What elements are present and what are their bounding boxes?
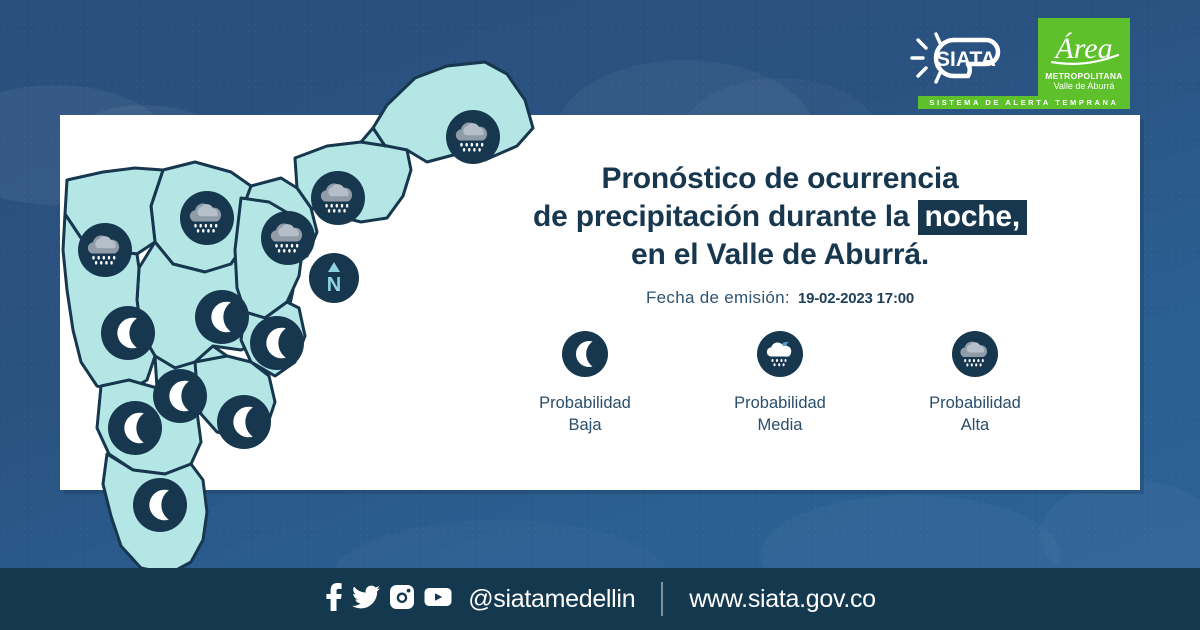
headline-line-2-pre: de precipitación durante la: [533, 200, 909, 233]
marker-copacabana: [261, 211, 315, 265]
cloud-moon-rain-icon: [695, 330, 865, 378]
marker-medellin: [195, 290, 249, 344]
legend-label-alta-line1: Probabilidad: [890, 392, 1060, 414]
youtube-icon[interactable]: [424, 586, 452, 613]
logo-group: SIATA Área METROPOLITANA Valle de Aburrá: [910, 18, 1130, 99]
marker-caldas: [133, 478, 187, 532]
website-url[interactable]: www.siata.gov.co: [689, 585, 875, 614]
compass-label: N: [327, 274, 341, 296]
probability-legend: Probabilidad Baja Probabi: [470, 330, 1090, 436]
marker-girardota: [311, 171, 365, 225]
marker-san-jeronimo: [101, 306, 155, 360]
legend-label-baja: Probabilidad Baja: [500, 392, 670, 436]
legend-label-media-line2: Media: [695, 414, 865, 436]
facebook-icon[interactable]: [324, 583, 343, 616]
issue-date-value: 19-02-2023 17:00: [798, 290, 914, 307]
forecast-text-block: Pronóstico de ocurrencia de precipitació…: [470, 160, 1090, 308]
issue-date-label: Fecha de emisión:: [646, 288, 790, 308]
siata-tagline-banner: SISTEMA DE ALERTA TEMPRANA: [918, 96, 1130, 109]
marker-barbosa: [446, 110, 500, 164]
cloud-heavy-rain-icon: [890, 330, 1060, 378]
legend-item-alta: Probabilidad Alta: [890, 330, 1060, 436]
marker-san-pedro: [78, 223, 132, 277]
legend-item-baja: Probabilidad Baja: [500, 330, 670, 436]
footer-divider: [661, 582, 663, 616]
marker-la-estrella: [108, 401, 162, 455]
legend-label-baja-line1: Probabilidad: [500, 392, 670, 414]
social-icons: [324, 583, 452, 616]
headline-line-3: en el Valle de Aburrá.: [470, 236, 1090, 274]
legend-label-alta: Probabilidad Alta: [890, 392, 1060, 436]
marker-bello: [180, 191, 234, 245]
headline-line-1: Pronóstico de ocurrencia: [470, 160, 1090, 198]
marker-envigado: [250, 316, 304, 370]
headline-highlight-noche: noche,: [918, 200, 1027, 235]
compass-north-icon: N: [309, 253, 359, 303]
footer-bar: @siatamedellin www.siata.gov.co: [0, 568, 1200, 630]
legend-label-media: Probabilidad Media: [695, 392, 865, 436]
legend-label-alta-line2: Alta: [890, 414, 1060, 436]
page-title: Pronóstico de ocurrencia de precipitació…: [470, 160, 1090, 274]
social-handle[interactable]: @siatamedellin: [468, 585, 635, 614]
issue-date-row: Fecha de emisión: 19-02-2023 17:00: [470, 288, 1090, 308]
twitter-icon[interactable]: [352, 583, 380, 616]
siata-logo: SIATA: [910, 28, 1028, 99]
headline-line-2: de precipitación durante la noche,: [470, 198, 1090, 236]
marker-sabaneta: [217, 395, 271, 449]
siata-wordmark: SIATA: [936, 48, 996, 71]
area-line-2: Valle de Aburrá: [1054, 81, 1115, 92]
siata-tagline-text: SISTEMA DE ALERTA TEMPRANA: [929, 98, 1118, 107]
area-logo-box: Área METROPOLITANA Valle de Aburrá: [1038, 18, 1130, 96]
area-metropolitana-logo: Área METROPOLITANA Valle de Aburrá: [1038, 18, 1130, 96]
area-script-mark: Área: [1038, 22, 1130, 70]
moon-clear-icon: [500, 330, 670, 378]
legend-label-media-line1: Probabilidad: [695, 392, 865, 414]
legend-item-media: Probabilidad Media: [695, 330, 865, 436]
area-line-1: METROPOLITANA: [1045, 71, 1122, 81]
instagram-icon[interactable]: [389, 584, 415, 615]
legend-label-baja-line2: Baja: [500, 414, 670, 436]
